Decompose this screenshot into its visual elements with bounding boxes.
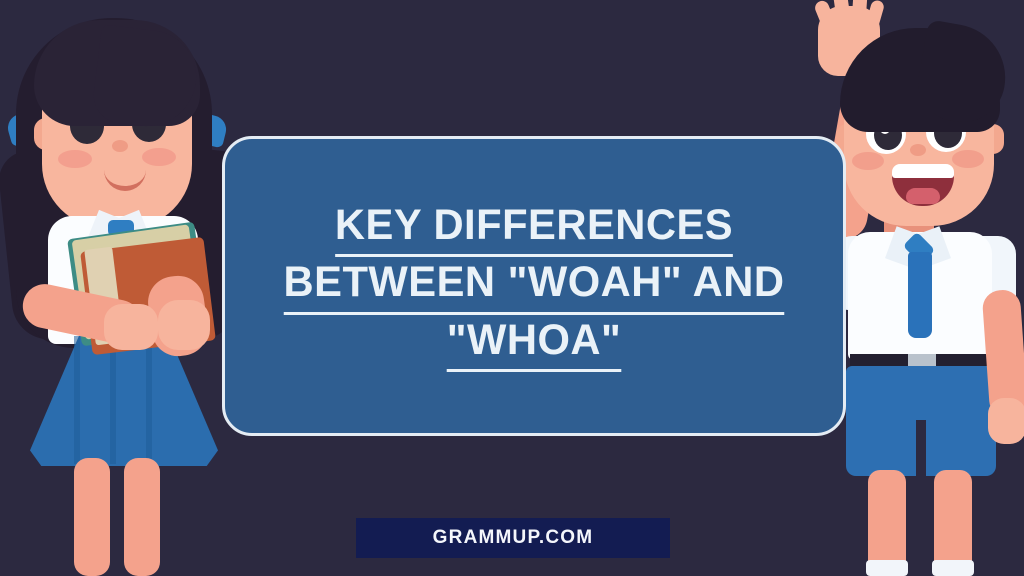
girl-blush-left [58,150,92,168]
boy-nose [910,144,926,156]
title-card: KEY DIFFERENCES BETWEEN "WOAH" AND "WHOA… [222,136,846,436]
girl-hand-right [158,300,210,350]
boy-necktie [908,252,932,338]
schoolgirl-illustration [0,0,250,576]
title-text-block: KEY DIFFERENCES BETWEEN "WOAH" AND "WHOA… [225,200,843,373]
girl-skirt-pleat [146,336,152,464]
title-line-3: "WHOA" [259,315,808,373]
girl-blush-right [142,148,176,166]
boy-shorts-gap [916,420,926,476]
boy-blush-right [952,150,984,168]
girl-hand-left [104,304,158,350]
girl-skirt-pleat [110,336,116,464]
boy-tongue [906,188,940,204]
site-badge-label: GRAMMUP.COM [433,527,594,549]
girl-leg-right [124,458,160,576]
girl-skirt [30,336,218,466]
boy-teeth [892,164,954,178]
boy-sock-right [932,560,974,576]
girl-leg-left [74,458,110,576]
boy-sock-left [866,560,908,576]
girl-skirt-pleat [74,336,80,464]
girl-nose [112,140,128,152]
thumbnail-canvas: KEY DIFFERENCES BETWEEN "WOAH" AND "WHOA… [0,0,1024,576]
boy-blush-left [852,152,884,170]
site-badge[interactable]: GRAMMUP.COM [356,518,670,558]
title-line-1: KEY DIFFERENCES [259,200,808,258]
title-line-2: BETWEEN "WOAH" AND [259,257,808,315]
boy-hand-right [988,398,1024,444]
